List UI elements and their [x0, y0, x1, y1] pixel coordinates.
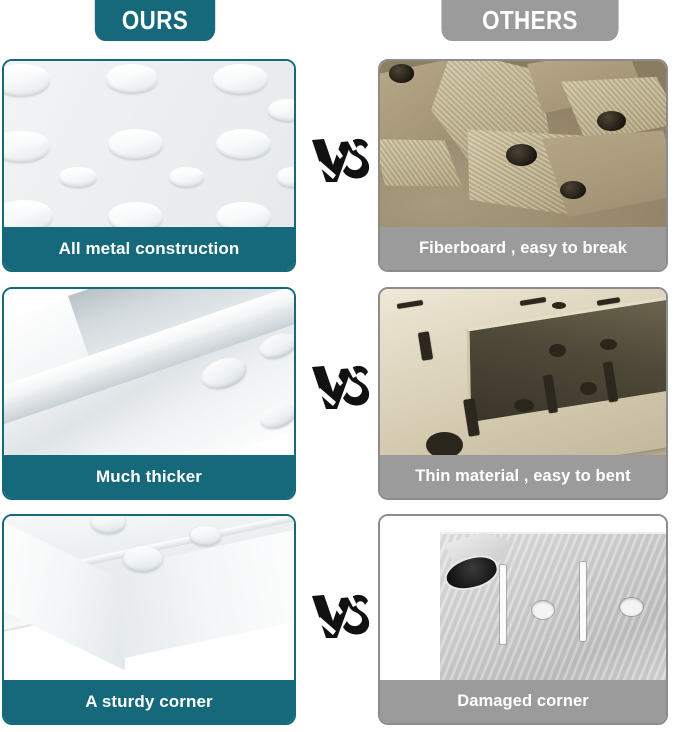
caption-ours-row2: Much thicker: [4, 455, 294, 498]
image-sturdy-corner: [4, 516, 294, 680]
caption-others-row2: Thin material , easy to bent: [380, 455, 666, 498]
panel-others-row3: Damaged corner: [378, 514, 668, 725]
caption-others-row1: Fiberboard , easy to break: [380, 227, 666, 270]
metal-plate-artwork: [4, 61, 294, 227]
thick-panel-artwork: [4, 289, 294, 455]
panel-ours-row2: Much thicker: [2, 287, 296, 500]
sturdy-corner-artwork: [4, 516, 294, 680]
header-pill-others: OTHERS: [441, 0, 618, 41]
image-fiberboard-broken: [380, 61, 666, 227]
header-label-others: OTHERS: [482, 5, 578, 36]
panel-others-row1: Fiberboard , easy to break: [378, 59, 668, 272]
header-pill-ours: OURS: [95, 0, 215, 41]
fiberboard-artwork: [380, 61, 666, 227]
panel-others-row2: Thin material , easy to bent: [378, 287, 668, 500]
image-damaged-corner: [380, 516, 666, 680]
image-thin-material: [380, 289, 666, 455]
panel-ours-row3: A sturdy corner: [2, 514, 296, 725]
caption-others-row3: Damaged corner: [380, 680, 666, 723]
caption-ours-row1: All metal construction: [4, 227, 294, 270]
vs-separator-row3: [307, 588, 375, 642]
comparison-infographic: OURS OTHERS All metal construction: [0, 0, 679, 732]
image-all-metal-construction: [4, 61, 294, 227]
image-much-thicker: [4, 289, 294, 455]
damaged-corner-artwork: [380, 516, 666, 680]
header-label-ours: OURS: [122, 5, 188, 36]
vs-separator-row1: [307, 132, 375, 186]
vs-separator-row2: [307, 359, 375, 413]
caption-ours-row3: A sturdy corner: [4, 680, 294, 723]
panel-ours-row1: All metal construction: [2, 59, 296, 272]
thin-metal-artwork: [380, 289, 666, 455]
